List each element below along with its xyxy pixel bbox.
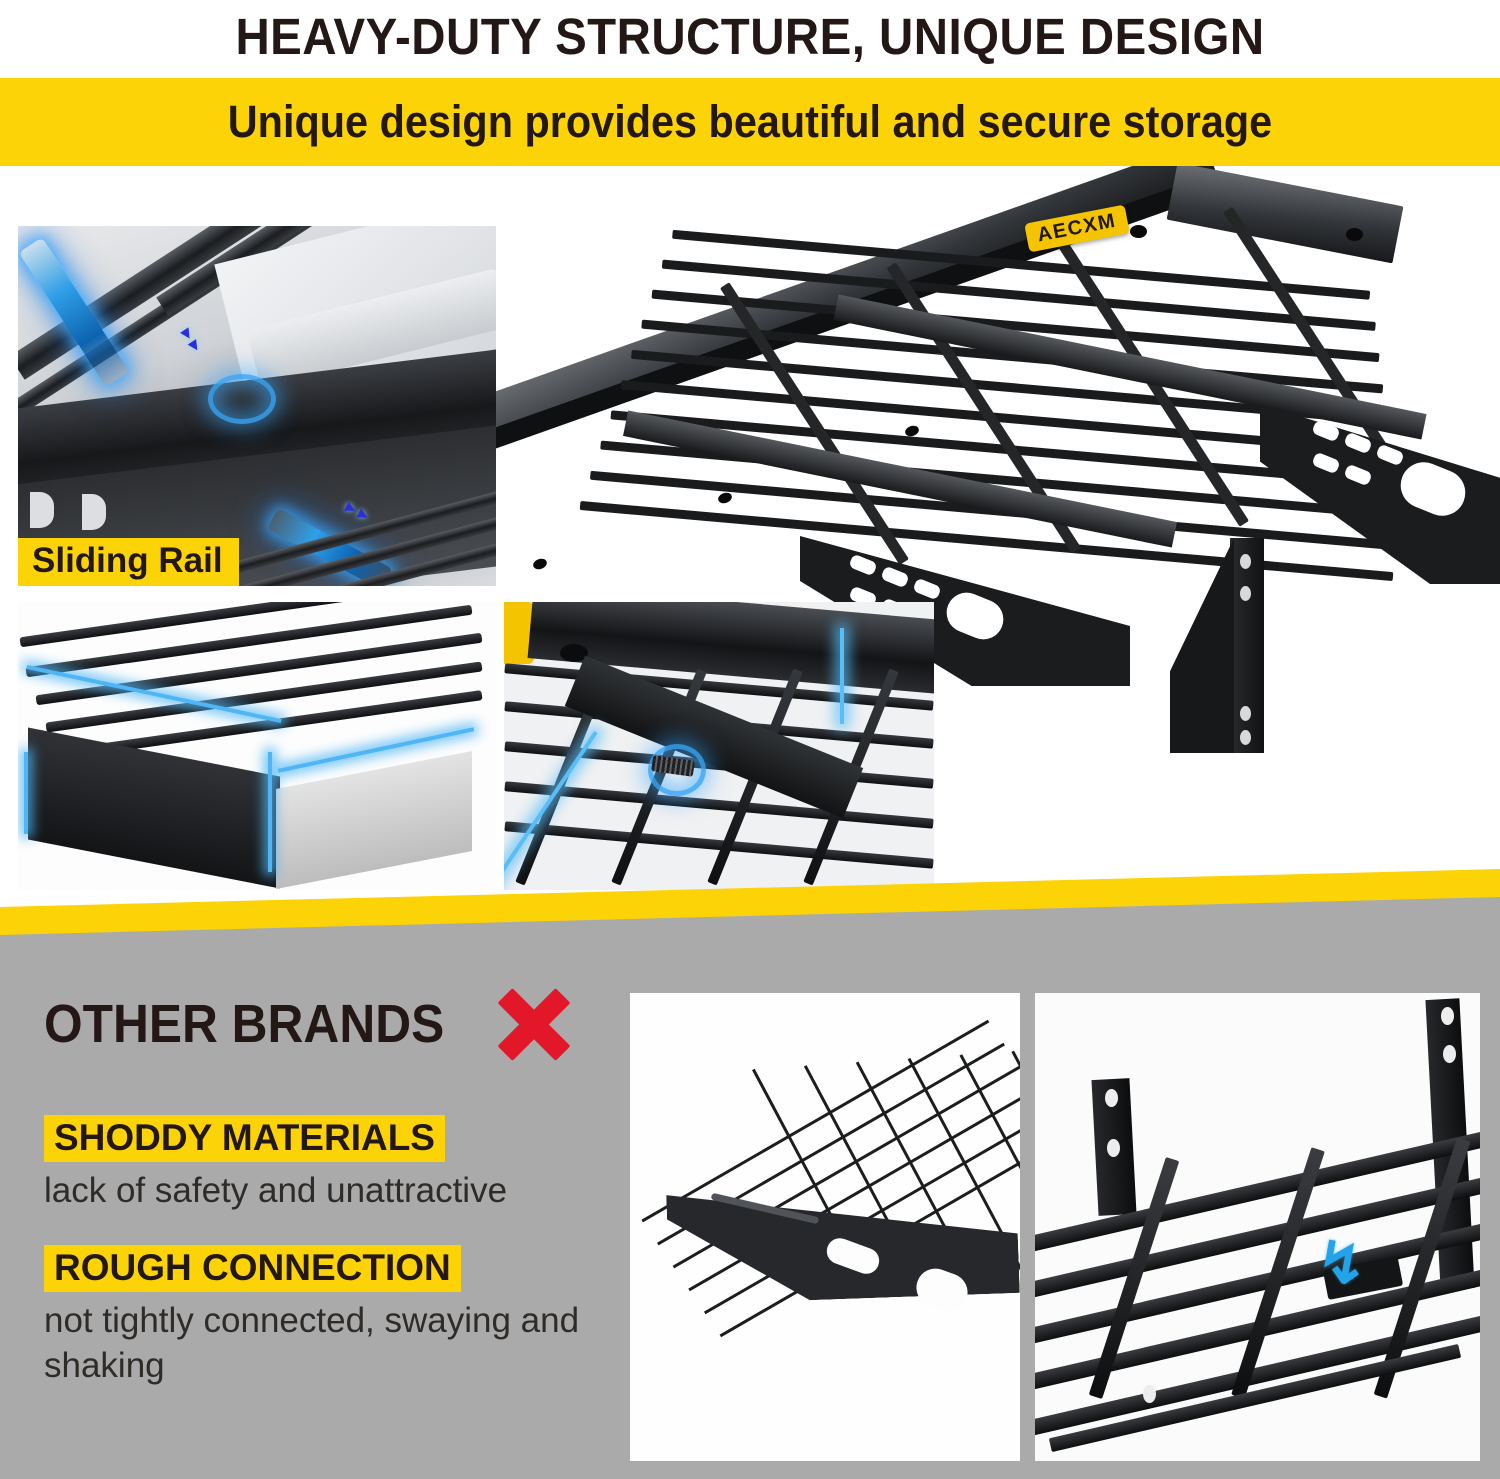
frame-mount-hole bbox=[1130, 225, 1147, 238]
other-brands-section: OTHER BRANDS SHODDY MATERIALS lack of sa… bbox=[0, 975, 1500, 1479]
photo-bolt-connection bbox=[504, 602, 934, 890]
product-infographic: HEAVY-DUTY STRUCTURE, UNIQUE DESIGN Uniq… bbox=[0, 0, 1500, 1479]
bracket-hole bbox=[1443, 1045, 1456, 1063]
sliding-rail-caption: Sliding Rail bbox=[18, 538, 239, 586]
bullet-rough-connection: ROUGH CONNECTION not tightly connected, … bbox=[44, 1245, 604, 1388]
notch-cutout bbox=[82, 494, 106, 530]
page-title: HEAVY-DUTY STRUCTURE, UNIQUE DESIGN bbox=[53, 0, 1448, 74]
bullet-shoddy-materials: SHODDY MATERIALS lack of safety and unat… bbox=[44, 1115, 507, 1214]
bullet-headline: SHODDY MATERIALS bbox=[44, 1115, 445, 1162]
wall-mount-bracket bbox=[1230, 538, 1264, 753]
bolt-fastener bbox=[226, 386, 248, 436]
photo-edge-corner bbox=[18, 602, 496, 890]
bracket-hole bbox=[1105, 1089, 1118, 1107]
section-divider bbox=[0, 862, 1500, 982]
deck-slat bbox=[504, 781, 933, 828]
edge-glow-highlight bbox=[24, 752, 28, 834]
edge-glow-highlight bbox=[268, 752, 272, 872]
photo-competitor-flat-bar: ↯ bbox=[1035, 993, 1480, 1461]
bracket-hole bbox=[1107, 1139, 1120, 1157]
other-brands-heading-row: OTHER BRANDS bbox=[44, 987, 571, 1061]
bullet-subtext: not tightly connected, swaying and shaki… bbox=[44, 1299, 604, 1387]
glow-line-vertical bbox=[840, 628, 844, 724]
direction-chevron-icon: ▼▼ bbox=[176, 324, 205, 356]
header-yellow-band: Unique design provides beautiful and sec… bbox=[0, 78, 1500, 166]
notch-cutout bbox=[30, 492, 54, 528]
hook-marker-icon: ↯ bbox=[1317, 1241, 1366, 1287]
other-brands-heading: OTHER BRANDS bbox=[44, 993, 444, 1055]
top-feature-section: AECXM bbox=[0, 166, 1500, 936]
bracket-mount-hole bbox=[1240, 554, 1251, 569]
bracket-mount-hole bbox=[1240, 586, 1251, 601]
bracket-mount-hole bbox=[1240, 706, 1251, 721]
photo-sliding-rail: ▼▼ ▼▼ Sliding Rail bbox=[18, 226, 496, 586]
bullet-headline: ROUGH CONNECTION bbox=[44, 1245, 461, 1292]
photo-competitor-wire-mesh bbox=[630, 993, 1020, 1461]
bracket-mount-hole bbox=[1240, 730, 1251, 745]
bracket-hole bbox=[1441, 1007, 1454, 1025]
x-mark-icon bbox=[497, 987, 571, 1061]
header-subtitle: Unique design provides beautiful and sec… bbox=[60, 78, 1440, 166]
bracket-hole bbox=[1143, 1385, 1156, 1403]
frame-mount-hole bbox=[1346, 228, 1363, 241]
bullet-subtext: lack of safety and unattractive bbox=[44, 1169, 507, 1213]
